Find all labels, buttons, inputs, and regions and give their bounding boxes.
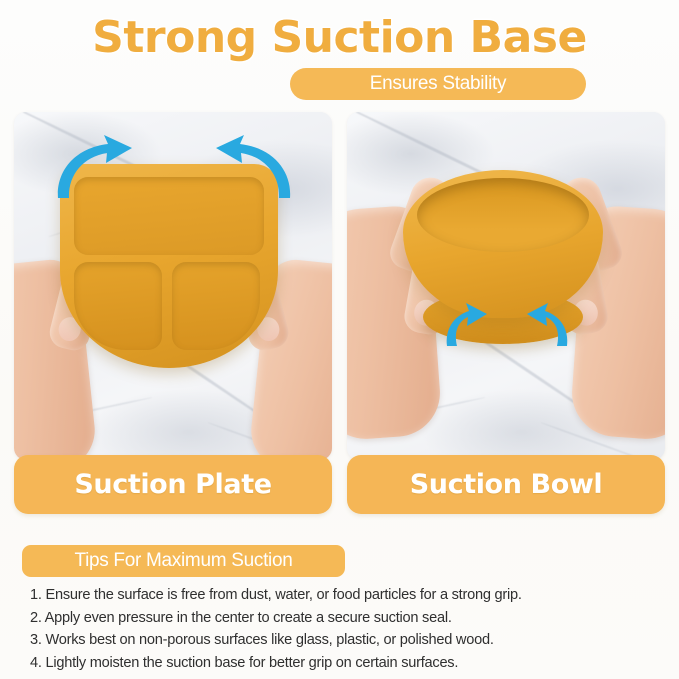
header: Strong Suction Base Ensures Stability: [0, 0, 679, 108]
bowl-interior: [417, 178, 589, 252]
caption-suction-bowl: Suction Bowl: [347, 455, 665, 514]
panel-suction-plate: Suction Plate: [14, 112, 332, 514]
subtitle-text: Ensures Stability: [370, 73, 506, 95]
panel-suction-bowl: Suction Bowl: [347, 112, 665, 514]
infographic-page: Strong Suction Base Ensures Stability: [0, 0, 679, 679]
tips-heading-text: Tips For Maximum Suction: [74, 550, 292, 572]
tip-item: 1. Ensure the surface is free from dust,…: [30, 584, 660, 607]
subtitle-badge: Ensures Stability: [290, 68, 586, 100]
tips-list: 1. Ensure the surface is free from dust,…: [30, 584, 660, 674]
page-title: Strong Suction Base: [0, 10, 679, 66]
caption-suction-plate: Suction Plate: [14, 455, 332, 514]
suction-arrow-right-icon: [523, 302, 571, 348]
suction-arrow-right-icon: [212, 132, 296, 202]
photo-suction-plate: [14, 112, 332, 460]
suction-arrow-left-icon: [52, 132, 136, 202]
suction-arrow-left-icon: [443, 302, 491, 348]
tip-item: 3. Works best on non-porous surfaces lik…: [30, 629, 660, 652]
plate-compartment-bottom-right: [172, 262, 260, 350]
product-panels: Suction Plate: [14, 112, 665, 514]
caption-label: Suction Bowl: [410, 469, 603, 500]
tips-section: Tips For Maximum Suction 1. Ensure the s…: [0, 540, 679, 679]
tip-item: 4. Lightly moisten the suction base for …: [30, 652, 660, 675]
caption-label: Suction Plate: [74, 469, 271, 500]
photo-suction-bowl: [347, 112, 665, 460]
tips-heading-badge: Tips For Maximum Suction: [22, 545, 345, 577]
tip-item: 2. Apply even pressure in the center to …: [30, 607, 660, 630]
